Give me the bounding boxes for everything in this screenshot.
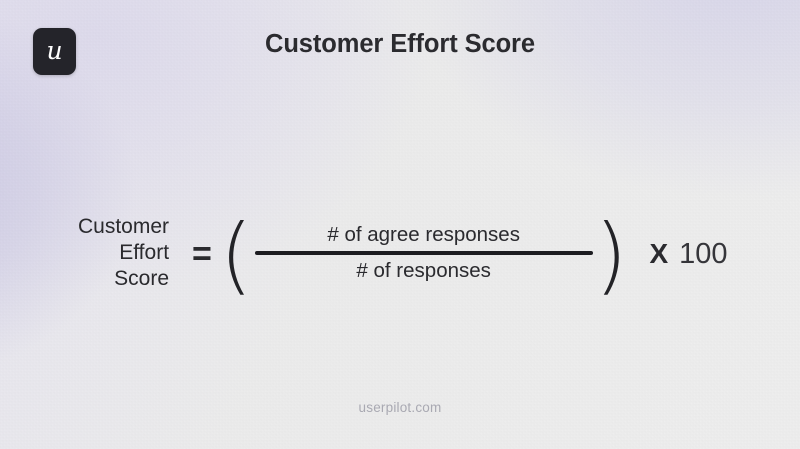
- equals-sign: =: [192, 237, 212, 271]
- formula-left-label-line-2: Effort: [78, 240, 169, 266]
- formula-left-label-line-3: Score: [78, 266, 169, 292]
- fraction-numerator: # of agree responses: [327, 223, 520, 247]
- formula-left-label-line-1: Customer: [78, 214, 169, 240]
- fraction-bar: [255, 251, 593, 255]
- multiply-sign: X: [649, 240, 668, 268]
- footer-attribution: userpilot.com: [0, 400, 800, 415]
- slide-canvas: u Customer Effort Score Customer Effort …: [0, 0, 800, 449]
- page-title: Customer Effort Score: [0, 30, 800, 59]
- fraction: # of agree responses # of responses: [255, 223, 593, 283]
- formula-left-label: Customer Effort Score: [78, 214, 169, 292]
- fraction-denominator: # of responses: [356, 259, 490, 283]
- formula-container: Customer Effort Score = ( # of agree res…: [0, 203, 800, 303]
- multiplier-value: 100: [679, 240, 727, 269]
